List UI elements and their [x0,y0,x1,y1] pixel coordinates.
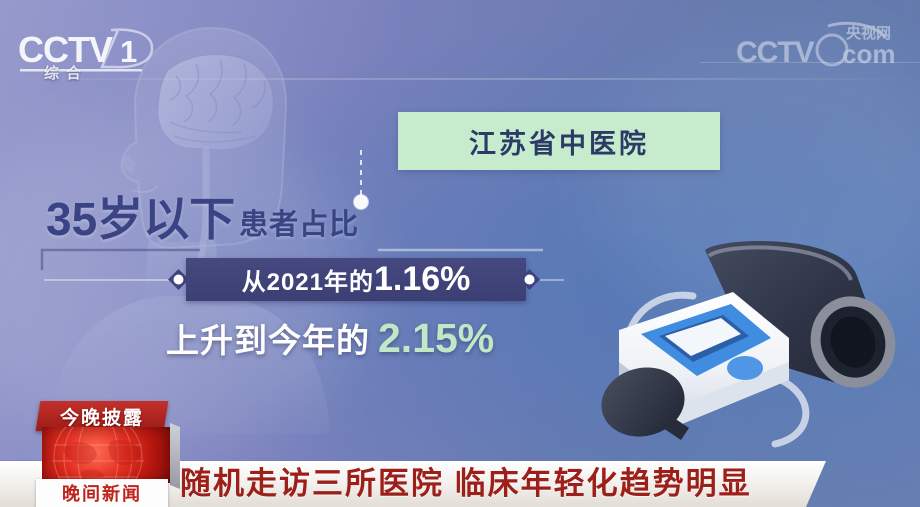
news-banner: 随机走访三所医院 临床年轻化趋势明显 今晚披露 [0,449,920,507]
broadcast-screen: CCTV 1 综合 央视网 CCTV com 江苏省中医院 35岁以下 患者占比… [0,0,920,507]
blood-pressure-monitor-icon [585,230,920,475]
stat-headline-row: 35岁以下 患者占比 [46,196,359,242]
cctv-com-watermark: 央视网 CCTV com [736,18,906,70]
stat-to-row: 上升到今年的 2.15% [166,314,494,362]
stat-connector-right [540,279,564,281]
program-block-edge [170,423,180,489]
stat-age-label: 35岁以下 [46,196,235,242]
hospital-name-label: 江苏省中医院 [469,122,649,161]
stat-to-prefix: 上升到今年的 [166,314,370,362]
stat-marker-right-icon [518,268,541,291]
stat-from-text: 从2021年的1.16% [242,260,471,299]
stat-subject-label: 患者占比 [239,211,359,240]
hospital-name-box: 江苏省中医院 [398,112,720,170]
svg-text:CCTV: CCTV [736,36,815,69]
cctv-channel-logo: CCTV 1 [14,22,164,84]
stat-from-prefix: 从2021年的 [242,269,374,296]
stat-to-value: 2.15% [378,315,494,362]
program-name-box: 晚间新闻 [36,479,168,507]
program-identity-block: 今晚披露 晚间新闻 [34,401,180,507]
program-name-label: 晚间新闻 [62,480,142,506]
cctv-channel-subtitle: 综合 [44,62,88,83]
stat-from-value: 1.16% [374,260,470,298]
news-headline: 随机走访三所医院 临床年轻化趋势明显 [180,463,752,505]
svg-text:com: com [842,39,895,69]
globe-grid [42,427,170,483]
svg-text:1: 1 [120,34,137,69]
red-globe-icon [42,427,170,483]
stat-connector-left [44,279,170,281]
program-badge-label: 今晚披露 [44,403,160,429]
stat-from-band: 从2021年的1.16% [186,258,526,301]
